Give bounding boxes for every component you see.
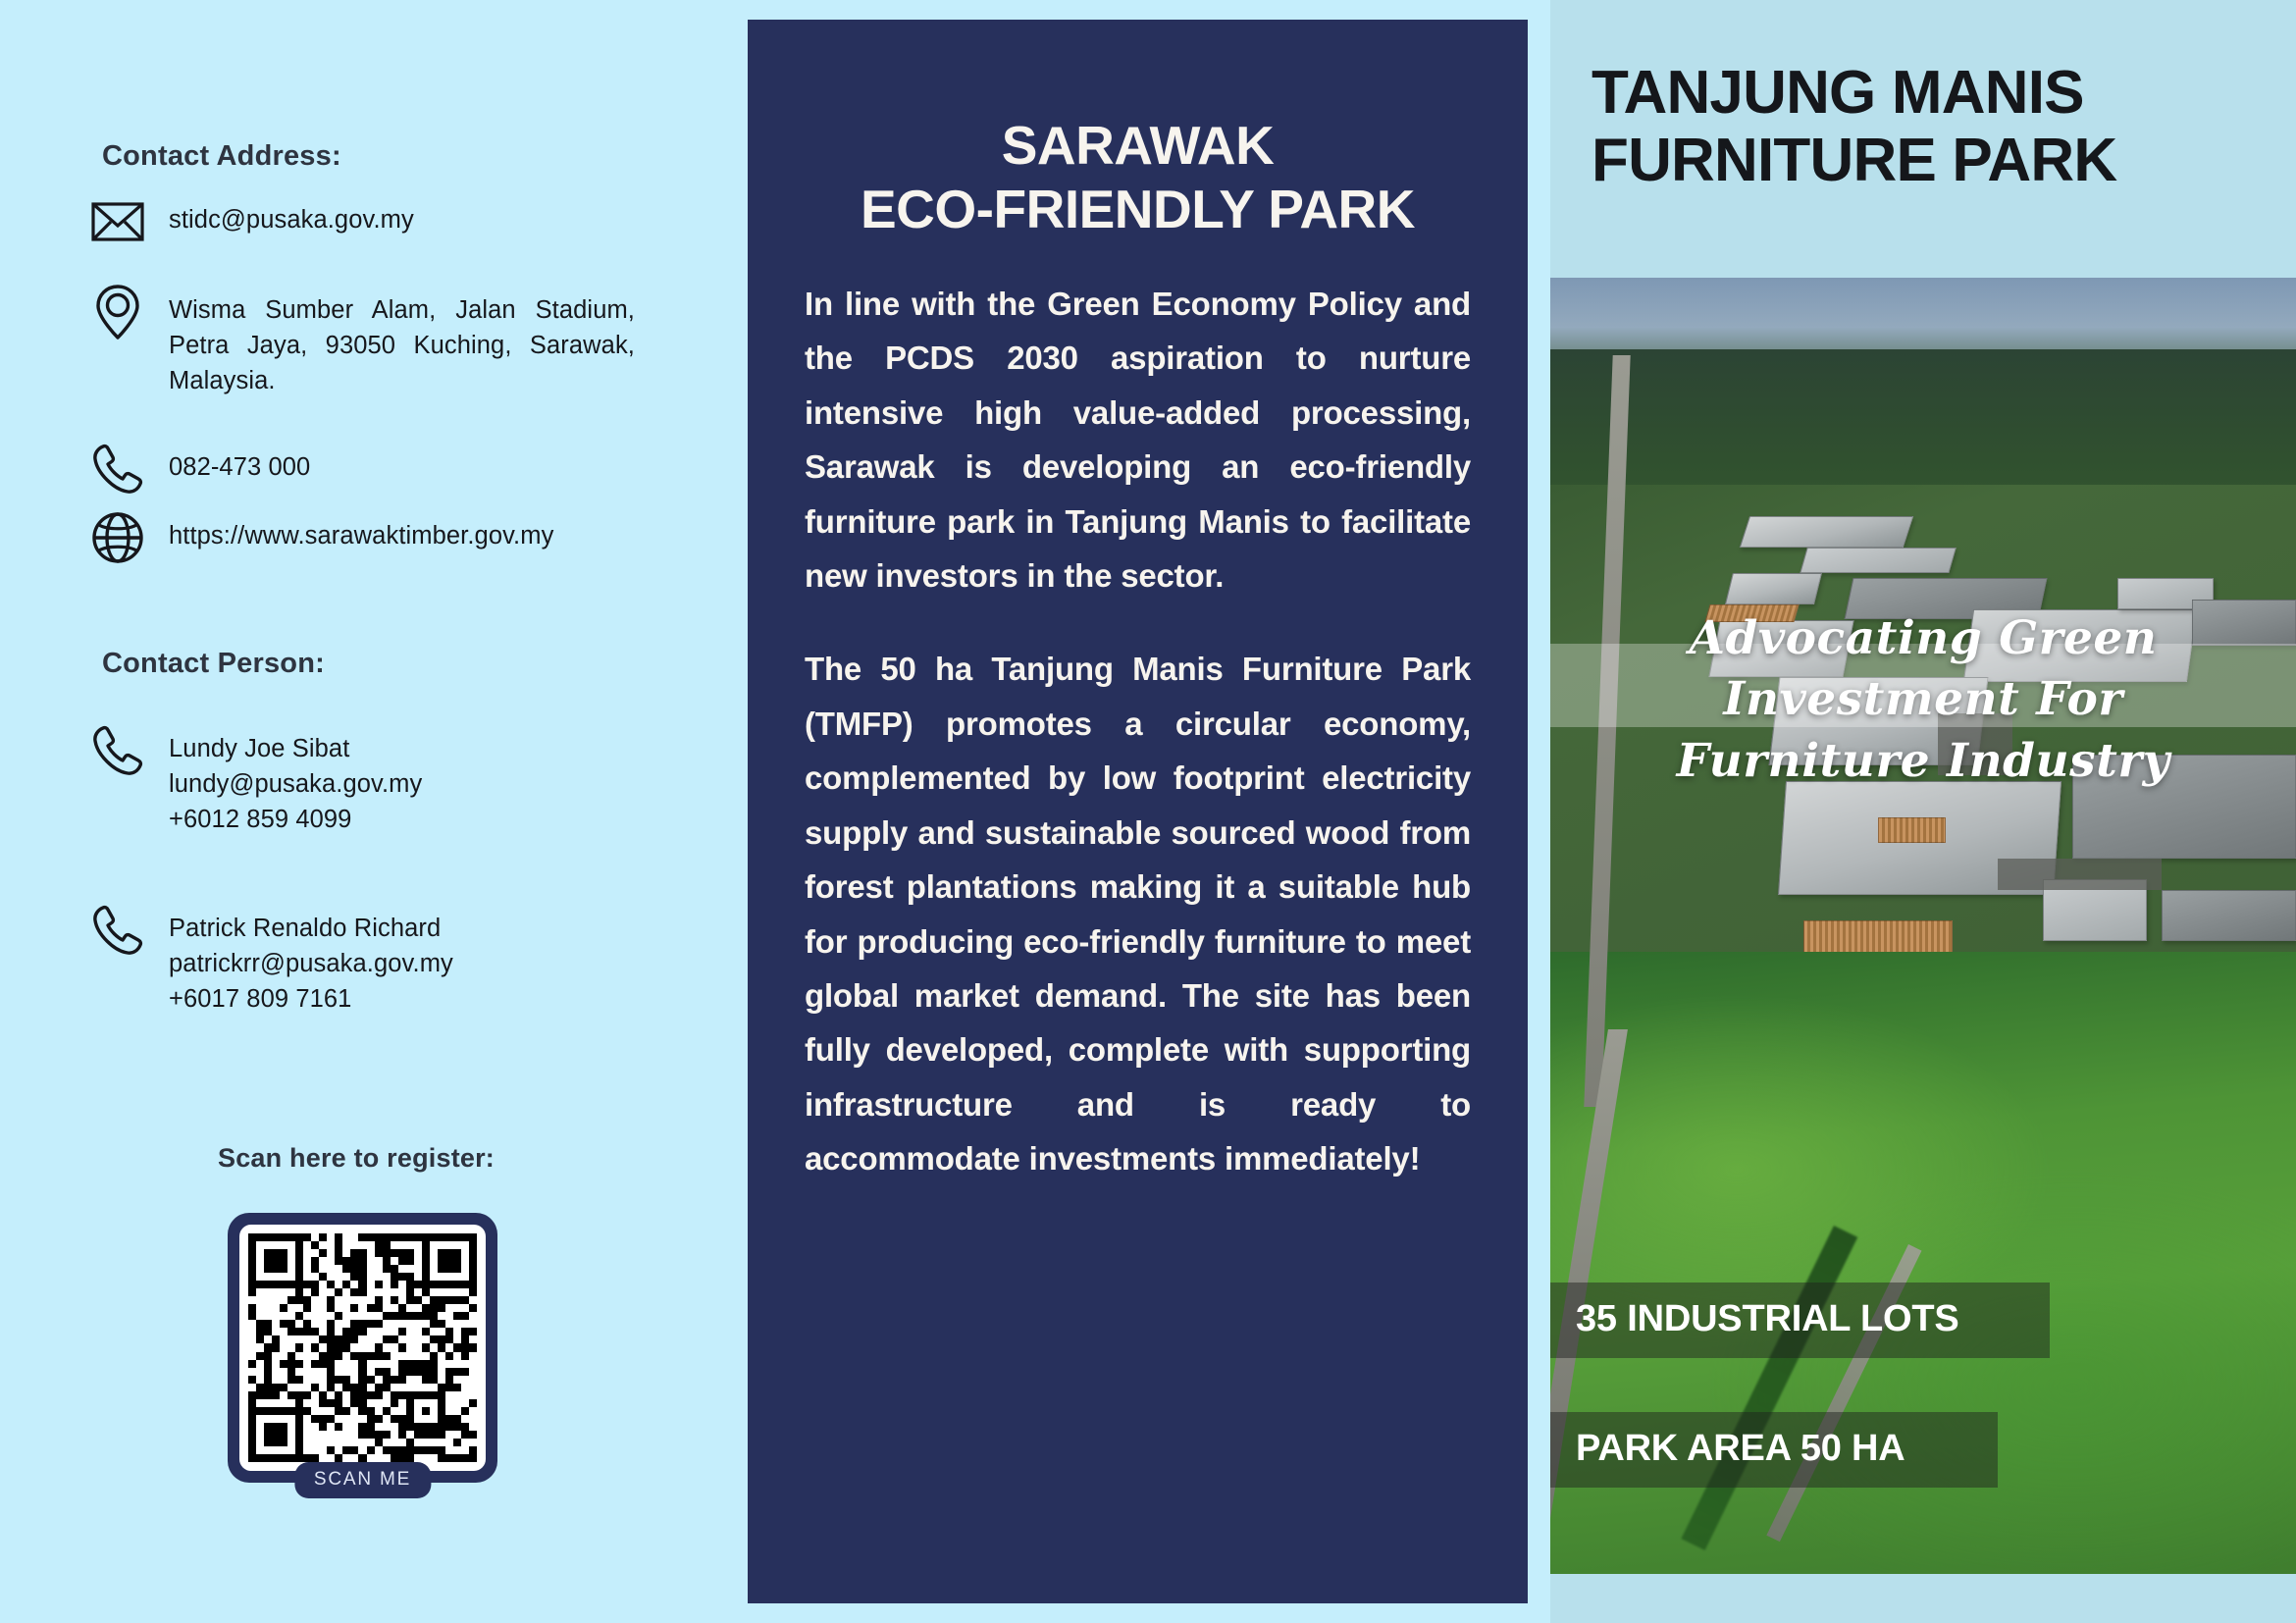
contact-person-2-email: patrickrr@pusaka.gov.my	[169, 946, 453, 981]
contact-address-heading: Contact Address:	[102, 140, 341, 173]
scan-here-label: Scan here to register:	[218, 1143, 495, 1174]
location-pin-icon	[88, 283, 147, 341]
right-panel-bottom-strip	[1550, 1574, 2296, 1623]
center-paragraph-2: The 50 ha Tanjung Manis Furniture Park (…	[805, 642, 1471, 1185]
phone-icon	[88, 901, 147, 960]
right-panel-title: TANJUNG MANIS FURNITURE PARK	[1550, 0, 2296, 195]
phone-icon	[88, 440, 147, 498]
contact-person-1-details: Lundy Joe Sibat lundy@pusaka.gov.my +601…	[169, 721, 422, 838]
brochure-layout: Contact Address: stidc@pusaka.gov.my Wis…	[0, 0, 2296, 1623]
aerial-photo: Advocating Green Investment For Furnitur…	[1550, 278, 2296, 1574]
globe-icon	[88, 508, 147, 567]
stat-industrial-lots: 35 INDUSTRIAL LOTS	[1550, 1283, 2050, 1358]
right-title-line-2: FURNITURE PARK	[1592, 127, 2296, 194]
center-title-line-2: ECO-FRIENDLY PARK	[805, 178, 1471, 241]
contact-row-website[interactable]: https://www.sarawaktimber.gov.my	[88, 508, 553, 567]
right-panel-cover: TANJUNG MANIS FURNITURE PARK	[1550, 0, 2296, 1623]
contact-person-1-name: Lundy Joe Sibat	[169, 731, 422, 766]
contact-row-phone[interactable]: 082-473 000	[88, 440, 310, 498]
right-title-line-1: TANJUNG MANIS	[1592, 59, 2296, 127]
contact-person-1-email: lundy@pusaka.gov.my	[169, 766, 422, 802]
scan-me-badge: SCAN ME	[294, 1462, 431, 1498]
contact-person-1[interactable]: Lundy Joe Sibat lundy@pusaka.gov.my +601…	[88, 721, 422, 838]
center-panel-description: SARAWAK ECO-FRIENDLY PARK In line with t…	[748, 20, 1528, 1603]
contact-person-1-phone: +6012 859 4099	[169, 802, 422, 837]
contact-website-value: https://www.sarawaktimber.gov.my	[169, 508, 553, 553]
contact-row-address: Wisma Sumber Alam, Jalan Stadium, Petra …	[88, 283, 635, 399]
contact-person-2[interactable]: Patrick Renaldo Richard patrickrr@pusaka…	[88, 901, 453, 1018]
qr-code[interactable]: SCAN ME	[228, 1213, 497, 1483]
qr-modules	[248, 1233, 477, 1462]
photo-industrial-area	[1550, 485, 2296, 1003]
envelope-icon	[88, 192, 147, 251]
photo-treeline	[1681, 1226, 1857, 1550]
contact-phone-value: 082-473 000	[169, 440, 310, 485]
contact-person-2-details: Patrick Renaldo Richard patrickrr@pusaka…	[169, 901, 453, 1018]
center-panel-title: SARAWAK ECO-FRIENDLY PARK	[805, 20, 1471, 241]
phone-icon	[88, 721, 147, 780]
contact-email-value: stidc@pusaka.gov.my	[169, 192, 414, 237]
contact-address-value: Wisma Sumber Alam, Jalan Stadium, Petra …	[169, 283, 635, 399]
contact-person-heading: Contact Person:	[102, 648, 325, 680]
contact-row-email[interactable]: stidc@pusaka.gov.my	[88, 192, 414, 251]
left-panel-contact: Contact Address: stidc@pusaka.gov.my Wis…	[0, 0, 748, 1623]
contact-person-2-phone: +6017 809 7161	[169, 981, 453, 1017]
stat-park-area: PARK AREA 50 HA	[1550, 1412, 1998, 1488]
qr-code-image	[239, 1225, 486, 1471]
contact-person-2-name: Patrick Renaldo Richard	[169, 911, 453, 946]
center-title-line-1: SARAWAK	[805, 114, 1471, 178]
center-paragraph-1: In line with the Green Economy Policy an…	[805, 277, 1471, 603]
